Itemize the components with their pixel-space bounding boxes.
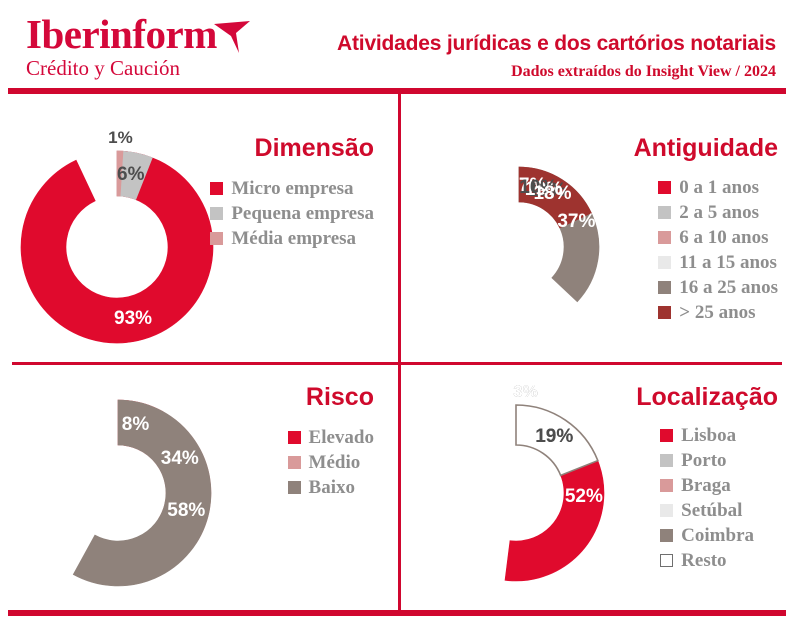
legend-swatch-icon [210,207,223,220]
chart-title-antiguidade: Antiguidade [634,134,778,163]
slice-percentage-label: 1% [108,128,133,148]
legend-swatch-icon [658,281,671,294]
legend-localizacao: LisboaPortoBragaSetúbalCoimbraResto [660,423,754,573]
legend-label: Pequena empresa [231,204,374,223]
legend-item: Elevado [288,425,374,449]
legend-item: Média empresa [210,226,374,250]
legend-item: 6 a 10 anos [658,225,778,249]
divider-bottom [8,610,786,616]
legend-item: Pequena empresa [210,201,374,225]
legend-swatch-icon [660,504,673,517]
legend-dimensao: Micro empresaPequena empresaMédia empres… [210,176,374,251]
legend-swatch-icon [210,182,223,195]
legend-item: Porto [660,448,754,472]
slice-percentage-label: 58% [167,500,205,522]
legend-item: Coimbra [660,523,754,547]
legend-item: Setúbal [660,498,754,522]
legend-label: Porto [681,451,726,470]
legend-label: Resto [681,551,726,570]
legend-item: 16 a 25 anos [658,275,778,299]
legend-swatch-icon [658,206,671,219]
chart-title-localizacao: Localização [636,383,778,412]
legend-label: Setúbal [681,501,742,520]
slice-percentage-label: 6% [117,164,144,186]
legend-item: Médio [288,450,374,474]
legend-label: Média empresa [231,229,356,248]
legend-label: 11 a 15 anos [679,253,777,272]
legend-swatch-icon [660,554,673,567]
legend-swatch-icon [660,454,673,467]
legend-item: 11 a 15 anos [658,250,778,274]
donut-chart-dimensao: 93%6%1% [18,148,216,346]
legend-swatch-icon [660,479,673,492]
legend-item: Baixo [288,475,374,499]
legend-item: Lisboa [660,423,754,447]
donut-chart-antiguidade: 7%15%13%10%37%18% [436,164,602,330]
legend-label: Elevado [309,428,374,447]
slice-percentage-label: 3% [513,382,538,402]
legend-item: 2 a 5 anos [658,200,778,224]
legend-label: Micro empresa [231,179,353,198]
chart-block-risco: Risco 8%34%58% ElevadoMédioBaixo [0,365,398,610]
legend-label: 16 a 25 anos [679,278,778,297]
chart-title-risco: Risco [306,383,374,412]
donut-chart-localizacao: 52%19%4%3%3%19% [425,402,607,584]
slice-percentage-label: 52% [565,486,603,508]
legend-swatch-icon [288,481,301,494]
legend-item: > 25 anos [658,300,778,324]
legend-swatch-icon [658,306,671,319]
donut-chart-risco: 8%34%58% [22,397,214,589]
legend-label: Braga [681,476,731,495]
page-subtitle: Dados extraídos do Insight View / 2024 [511,63,776,81]
page-title: Atividades jurídicas e dos cartórios not… [337,32,776,56]
legend-label: > 25 anos [679,303,755,322]
donut-slices [22,397,214,589]
chart-block-antiguidade: Antiguidade 7%15%13%10%37%18% 0 a 1 anos… [401,92,794,362]
slice-percentage-label: 37% [557,211,595,233]
chart-block-localizacao: Localização 52%19%4%3%3%19% LisboaPortoB… [401,365,794,610]
legend-item: Micro empresa [210,176,374,200]
legend-item: Braga [660,473,754,497]
brand-tagline: Crédito y Caución [26,56,256,80]
legend-risco: ElevadoMédioBaixo [288,425,374,500]
slice-percentage-label: 34% [161,448,199,470]
slice-percentage-label: 93% [114,308,152,330]
legend-swatch-icon [210,232,223,245]
slice-percentage-label: 19% [535,426,573,448]
infographic-canvas: Iberinform Crédito y Caución Atividades … [0,0,794,637]
legend-swatch-icon [658,256,671,269]
legend-item: Resto [660,548,754,572]
slice-percentage-label: 8% [122,414,149,436]
legend-label: 6 a 10 anos [679,228,768,247]
legend-item: 0 a 1 anos [658,175,778,199]
legend-label: Lisboa [681,426,736,445]
legend-label: Coimbra [681,526,754,545]
brand-logo: Iberinform Crédito y Caución [26,14,256,80]
legend-swatch-icon [658,181,671,194]
legend-label: 2 a 5 anos [679,203,759,222]
legend-swatch-icon [660,529,673,542]
chart-title-dimensao: Dimensão [255,134,374,163]
legend-swatch-icon [288,431,301,444]
legend-label: Médio [309,453,361,472]
legend-antiguidade: 0 a 1 anos2 a 5 anos6 a 10 anos11 a 15 a… [658,175,778,325]
legend-swatch-icon [658,231,671,244]
arrow-swoosh-icon [212,20,254,54]
slice-percentage-label: 18% [533,183,571,205]
legend-label: 0 a 1 anos [679,178,759,197]
legend-swatch-icon [660,429,673,442]
legend-swatch-icon [288,456,301,469]
legend-label: Baixo [309,478,355,497]
chart-block-dimensao: Dimensão 93%6%1% Micro empresaPequena em… [0,92,398,362]
